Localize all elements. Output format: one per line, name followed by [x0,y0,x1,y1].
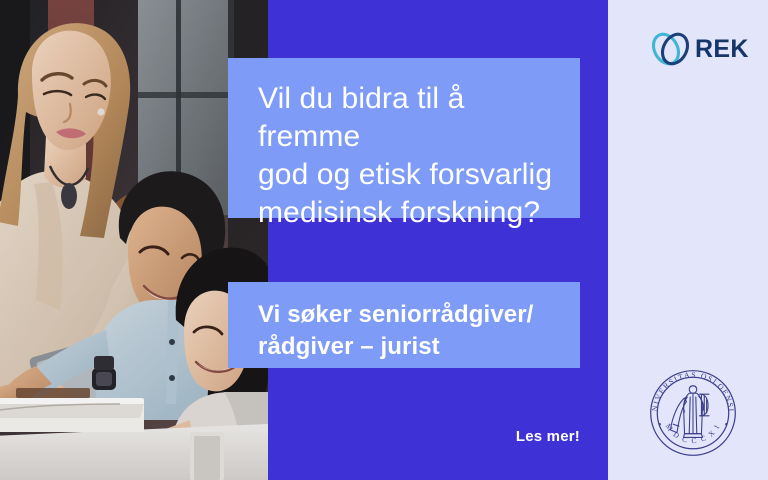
headline-text: Vil du bidra til å fremme god og etisk f… [258,80,554,232]
read-more-link[interactable]: Les mer! [420,428,580,445]
job-title-line-2: rådgiver – jurist [258,333,440,360]
rek-recruitment-banner: Vil du bidra til å fremme god og etisk f… [0,0,768,480]
rek-interlocking-rings-icon [650,28,692,70]
headline-line-3: medisinsk forskning? [258,196,540,229]
headline-card: Vil du bidra til å fremme god og etisk f… [228,58,580,218]
rek-wordmark: REK [695,37,749,62]
job-title-text: Vi søker seniorrådgiver/ rådgiver – juri… [258,299,554,363]
job-title-line-1: Vi søker seniorrådgiver/ [258,301,533,328]
uio-seal-top-text: UNIVERSITAS OSLOENSIS [646,366,736,413]
headline-line-2: god og etisk forsvarlig [258,158,552,191]
headline-line-1: Vil du bidra til å fremme [258,82,464,153]
uio-seal-logo: UNIVERSITAS OSLOENSIS M D C C C X I [646,366,740,460]
rek-logo[interactable]: REK [650,26,742,72]
job-title-card: Vi søker seniorrådgiver/ rådgiver – juri… [228,282,580,368]
